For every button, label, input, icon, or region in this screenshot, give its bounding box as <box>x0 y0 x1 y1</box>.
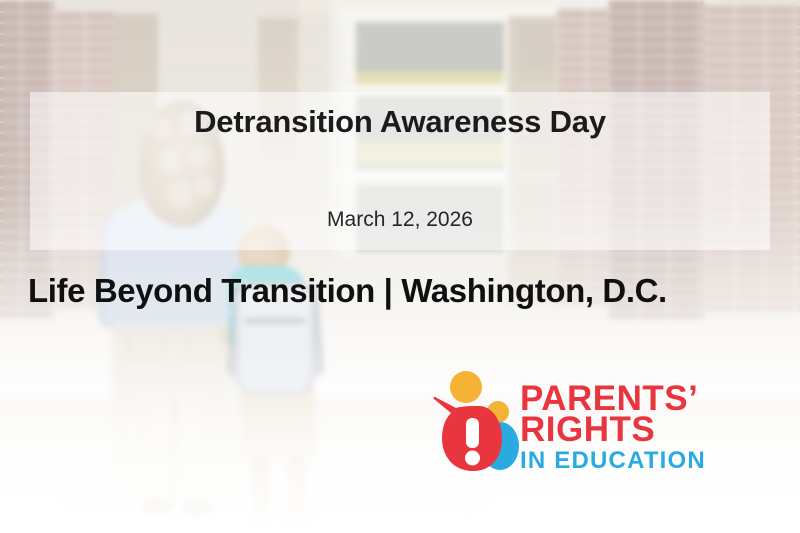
event-date: March 12, 2026 <box>0 208 800 232</box>
event-promo-banner: Detransition Awareness Day March 12, 202… <box>0 0 800 533</box>
page-title: Detransition Awareness Day <box>0 104 800 140</box>
parents-rights-in-education-logo[interactable]: PARENTS’ RIGHTS IN EDUCATION <box>432 370 712 495</box>
exclamation-dot-white <box>465 451 480 466</box>
logo-line-in-education: IN EDUCATION <box>520 449 720 473</box>
logo-mark <box>432 370 522 475</box>
logo-wordmark: PARENTS’ RIGHTS IN EDUCATION <box>520 384 720 473</box>
exclamation-bar-white <box>466 418 479 448</box>
parent-head-yellow-large <box>450 371 482 403</box>
logo-line-rights: RIGHTS <box>520 415 720 446</box>
event-headline: Life Beyond Transition | Washington, D.C… <box>28 272 667 310</box>
